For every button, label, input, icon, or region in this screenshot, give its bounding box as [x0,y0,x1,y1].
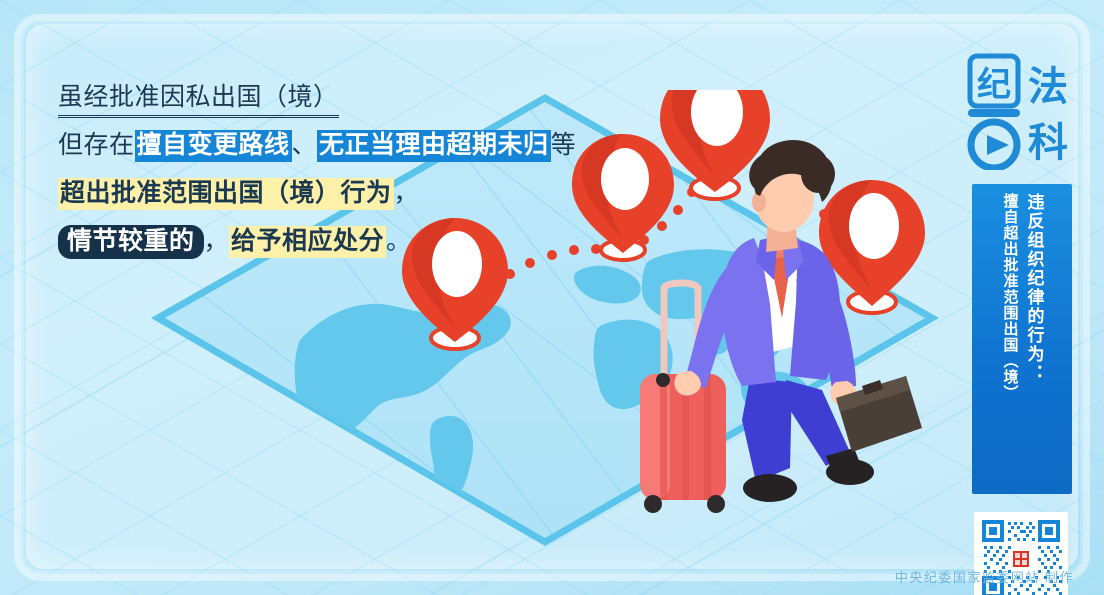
text-line1-underlined: 虽经批准因私出国（境） [58,84,339,118]
vertical-title-panel: 违反组织纪律的行为： 擅自超出批准范围出国（境） [972,184,1072,494]
logo-char-bai-mark [968,109,1020,168]
pill-dark-1: 情节较重的 [58,225,204,259]
text-line2-plain-b: 、 [292,132,318,159]
jifa-baike-logo[interactable]: 纪 法 科 [966,52,1078,170]
vertical-title-left: 擅自超出批准范围出国（境） [1001,193,1019,494]
highlight-blue-1: 擅自变更路线 [135,130,292,162]
poster-canvas: 虽经批准因私出国（境） 但存在擅自变更路线、无正当理由超期未归等 超出批准范围出… [0,0,1104,595]
text-line4-plain-a: ， [204,228,230,255]
text-line-4: 情节较重的，给予相应处分。 [58,228,678,255]
logo-char-ke: 科 [1028,120,1068,165]
logo-char-fa: 法 [1028,64,1068,109]
text-line4-plain-b: 。 [386,228,412,255]
text-line-1: 虽经批准因私出国（境） [58,84,678,111]
text-line2-plain-c: 等 [551,132,577,159]
vertical-title-right: 违反组织纪律的行为： [1024,193,1044,494]
highlight-yellow-1: 超出批准范围出国（境）行为 [58,178,394,210]
text-line3-plain: ， [394,180,420,207]
text-line-2: 但存在擅自变更路线、无正当理由超期未归等 [58,132,678,159]
highlight-yellow-2: 给予相应处分 [229,226,386,258]
text-line2-plain-a: 但存在 [58,132,135,159]
play-triangle-icon [987,135,1009,155]
logo-char-ji: 纪 [977,66,1011,104]
right-sidebar: 纪 法 科 违反组织纪律的行为： 擅自超出批准范围出国（境） [962,34,1080,564]
footer-credit: 中央纪委国家监委网站 制作 [895,567,1074,586]
text-line-3: 超出批准范围出国（境）行为， [58,180,678,207]
qr-center-logo [1011,549,1031,569]
main-text-block: 虽经批准因私出国（境） 但存在擅自变更路线、无正当理由超期未归等 超出批准范围出… [58,84,678,276]
highlight-blue-2: 无正当理由超期未归 [317,130,551,162]
